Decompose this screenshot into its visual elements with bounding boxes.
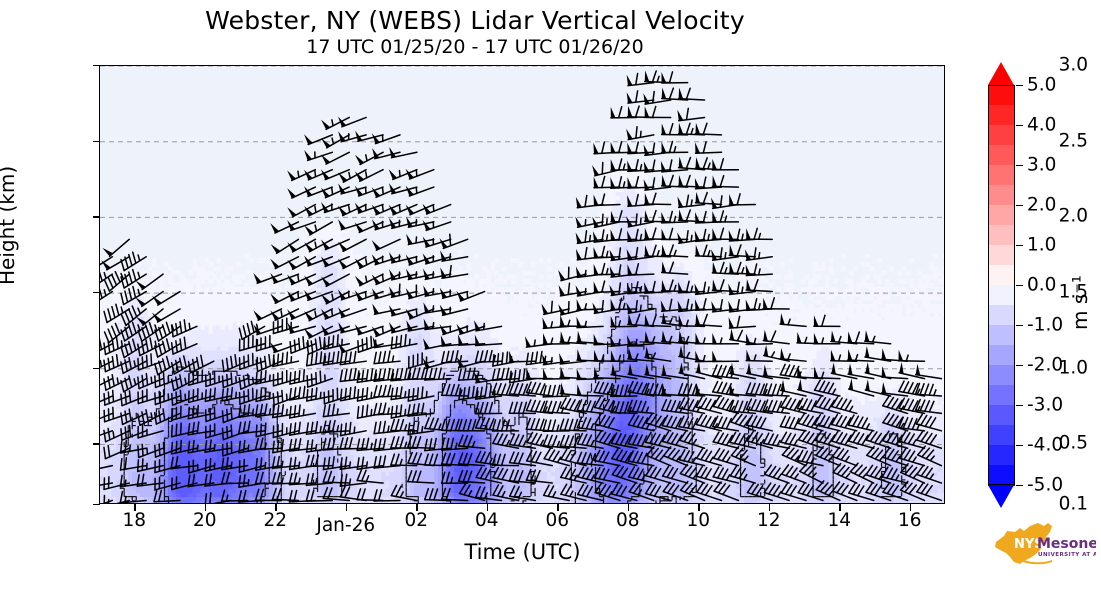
colorbar-band — [988, 145, 1015, 166]
colorbar-band — [988, 285, 1015, 306]
colorbar-tick — [1016, 205, 1023, 206]
y-tick-mark — [93, 216, 100, 217]
colorbar-band — [988, 345, 1015, 366]
x-tick-label: 12 — [757, 510, 781, 531]
colorbar-tick-label: -2.0 — [1027, 355, 1063, 376]
y-tick-label: 0.1 — [1059, 494, 1088, 515]
colorbar-tick — [1016, 245, 1023, 246]
colorbar-arrow-top — [988, 62, 1014, 85]
colorbar-band — [988, 425, 1015, 446]
colorbar-band — [988, 185, 1015, 206]
x-tick-label: 16 — [898, 510, 922, 531]
plot-area — [99, 65, 945, 504]
colorbar-band — [988, 305, 1015, 326]
chart-subtitle: 17 UTC 01/25/20 - 17 UTC 01/26/20 — [0, 36, 950, 58]
colorbar-unit-label: m s⁻¹ — [1068, 275, 1092, 330]
colorbar-tick — [1016, 165, 1023, 166]
chart-title: Webster, NY (WEBS) Lidar Vertical Veloci… — [0, 6, 950, 35]
colorbar-band — [988, 265, 1015, 286]
colorbar-band — [988, 405, 1015, 426]
colorbar-tick — [1016, 325, 1023, 326]
colorbar-tick — [1016, 445, 1023, 446]
colorbar-band — [988, 365, 1015, 386]
colorbar-tick-label: -3.0 — [1027, 395, 1063, 416]
colorbar-band — [988, 445, 1015, 466]
colorbar-band — [988, 245, 1015, 266]
colorbar-tick-label: 2.0 — [1027, 195, 1056, 216]
x-tick-label: 18 — [122, 510, 146, 531]
colorbar-band — [988, 105, 1015, 126]
colorbar-tick-label: 3.0 — [1027, 155, 1056, 176]
logo-tagline-text: UNIVERSITY AT ALBANY — [1038, 552, 1096, 558]
colorbar-tick-label: 1.0 — [1027, 235, 1056, 256]
colorbar-tick — [1016, 285, 1023, 286]
x-tick-label: 10 — [686, 510, 710, 531]
colorbar-tick-label: -5.0 — [1027, 475, 1063, 496]
y-tick-label: 3.0 — [1059, 55, 1088, 76]
x-tick-label: 08 — [616, 510, 640, 531]
y-tick-mark — [93, 65, 100, 66]
colorbar-tick-label: 5.0 — [1027, 75, 1056, 96]
y-tick-mark — [93, 141, 100, 142]
colorbar-band — [988, 125, 1015, 146]
colorbar-tick — [1016, 485, 1023, 486]
colorbar-arrow-bottom — [988, 485, 1014, 508]
y-axis-label: Height (km) — [0, 166, 19, 285]
colorbar-band — [988, 165, 1015, 186]
nys-mesonet-logo: NYS Mesonet UNIVERSITY AT ALBANY — [990, 520, 1096, 568]
colorbar[interactable] — [988, 85, 1015, 485]
logo-mesonet-text: Mesonet — [1037, 536, 1096, 552]
colorbar-tick-label: 0.0 — [1027, 275, 1056, 296]
x-axis-label: Time (UTC) — [0, 540, 1045, 564]
colorbar-tick — [1016, 125, 1023, 126]
y-tick-mark — [93, 292, 100, 293]
colorbar-band — [988, 465, 1015, 486]
vertical-velocity-field — [100, 66, 945, 504]
figure-root: Webster, NY (WEBS) Lidar Vertical Veloci… — [0, 0, 1101, 600]
colorbar-tick-label: 4.0 — [1027, 115, 1056, 136]
y-tick-mark — [93, 443, 100, 444]
colorbar-band — [988, 325, 1015, 346]
y-tick-label: 2.5 — [1059, 130, 1088, 151]
x-tick-label: 14 — [827, 510, 851, 531]
y-tick-label: 2.0 — [1059, 206, 1088, 227]
colorbar-band — [988, 385, 1015, 406]
colorbar-tick — [1016, 85, 1023, 86]
x-tick-label: 22 — [263, 510, 287, 531]
colorbar-tick-label: -4.0 — [1027, 435, 1063, 456]
colorbar-tick-label: -1.0 — [1027, 315, 1063, 336]
x-tick-label: Jan-26 — [316, 515, 375, 536]
x-tick-label: 04 — [475, 510, 499, 531]
x-tick-mark — [346, 504, 347, 511]
x-tick-label: 20 — [193, 510, 217, 531]
colorbar-band — [988, 205, 1015, 226]
colorbar-tick — [1016, 365, 1023, 366]
x-tick-label: 06 — [545, 510, 569, 531]
x-tick-label: 02 — [404, 510, 428, 531]
colorbar-tick — [1016, 405, 1023, 406]
colorbar-band — [988, 85, 1015, 106]
colorbar-band — [988, 225, 1015, 246]
y-tick-mark — [93, 504, 100, 505]
y-tick-mark — [93, 368, 100, 369]
logo-swoosh — [1023, 560, 1052, 564]
